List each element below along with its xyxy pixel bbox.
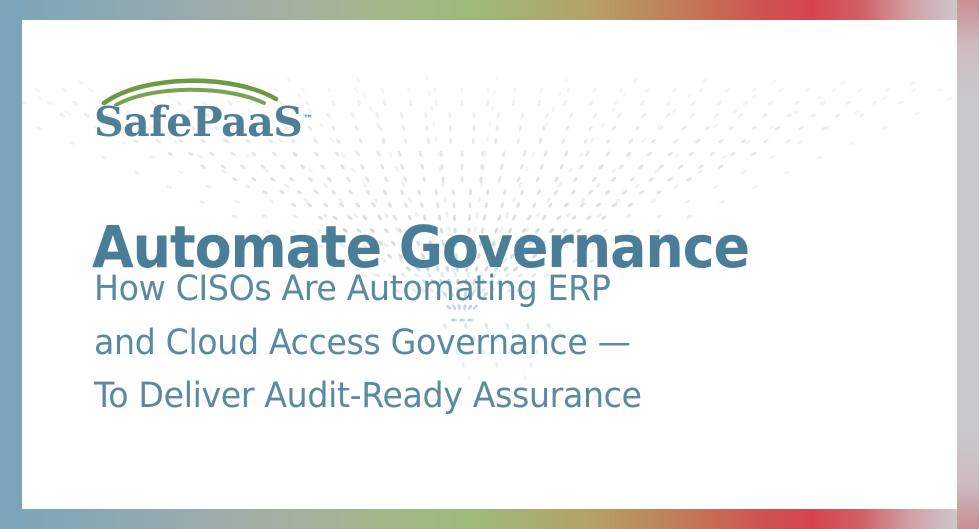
page-subtitle: How CISOs Are Automating ERP and Cloud A… [94,263,642,424]
subtitle-line-3: To Deliver Audit-Ready Assurance [94,370,642,424]
subtitle-line-2: and Cloud Access Governance — [94,317,642,371]
subtitle-line-1: How CISOs Are Automating ERP [94,263,642,317]
title-slide: SafePaaS™ Automate Governance How CISOs … [0,0,979,529]
logo-trademark-symbol: ™ [303,114,313,125]
slide-content-card: SafePaaS™ Automate Governance How CISOs … [22,20,957,509]
gradient-border-right-edge [957,0,979,529]
logo-wordmark: SafePaaS™ [94,102,313,143]
safepaas-logo: SafePaaS™ [94,72,304,164]
logo-wordmark-text: SafePaaS [94,98,302,146]
gradient-border-left-edge [0,0,22,529]
